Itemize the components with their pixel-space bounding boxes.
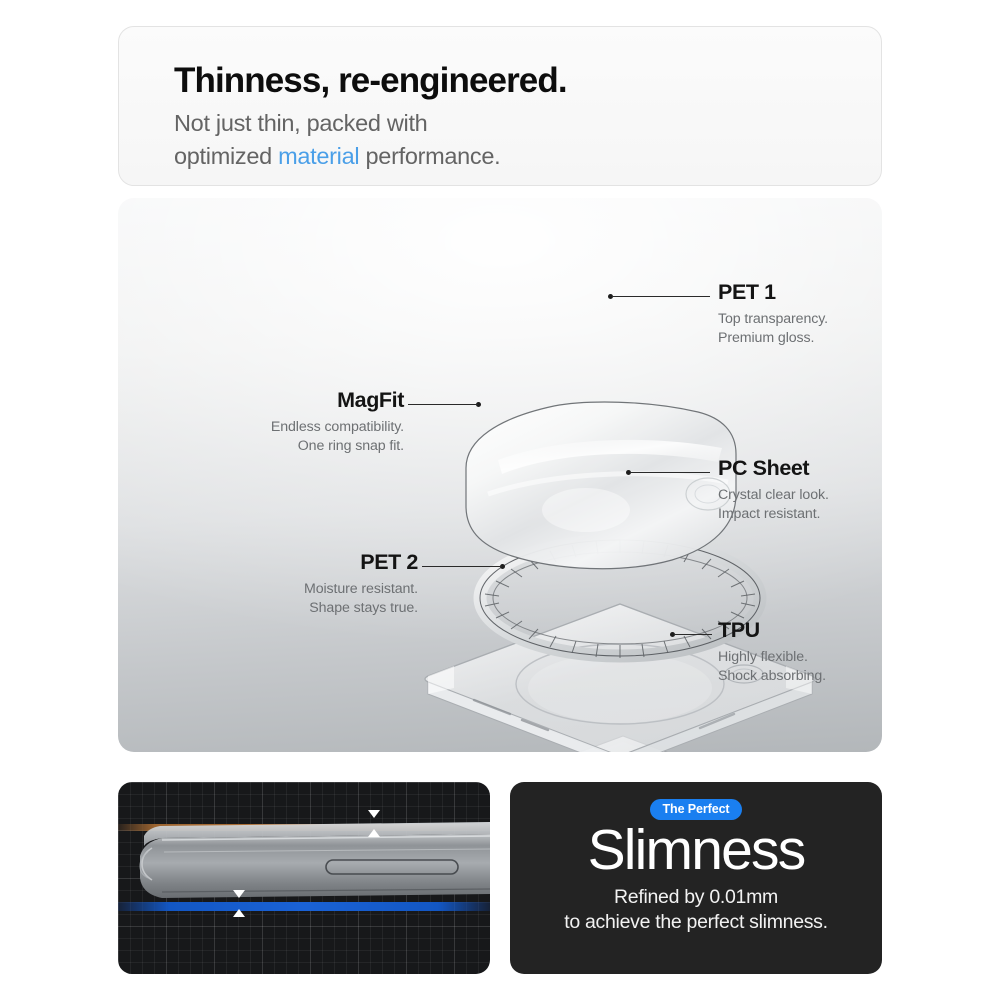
callout-tpu: TPU Highly flexible. Shock absorbing. (718, 618, 826, 687)
callout-pet2: PET 2 Moisture resistant. Shape stays tr… (118, 550, 418, 619)
slimness-subtitle: Refined by 0.01mm to achieve the perfect… (510, 885, 882, 936)
leader-line-pcsheet (630, 472, 710, 473)
leader-line-pet2 (422, 566, 502, 567)
callout-pcsheet-desc: Crystal clear look. Impact resistant. (718, 486, 829, 525)
callout-pcsheet: PC Sheet Crystal clear look. Impact resi… (718, 456, 829, 525)
diagram-stage: PET 1 Top transparency. Premium gloss. M… (118, 198, 882, 752)
product-infographic-page: Thinness, re-engineered. Not just thin, … (0, 0, 1000, 1000)
leader-line-magfit (408, 404, 478, 405)
slimness-panel: The Perfect Slimness Refined by 0.01mm t… (510, 782, 882, 974)
case-side-profile-panel (118, 782, 490, 974)
leader-line-tpu (674, 634, 712, 635)
header-card: Thinness, re-engineered. Not just thin, … (118, 26, 882, 186)
callout-tpu-title: TPU (718, 618, 826, 643)
callout-magfit-desc: Endless compatibility. One ring snap fit… (118, 418, 404, 457)
header-subtitle: Not just thin, packed with optimized mat… (174, 107, 500, 174)
callout-magfit: MagFit Endless compatibility. One ring s… (118, 388, 404, 457)
measure-marker-top-down (368, 810, 380, 818)
header-subtitle-part2: performance. (359, 143, 500, 169)
slimness-title: Slimness (510, 821, 882, 879)
accent-band-blue (118, 902, 490, 911)
callout-pet2-title: PET 2 (118, 550, 418, 575)
callout-pet1-desc: Top transparency. Premium gloss. (718, 310, 828, 349)
callout-pet1: PET 1 Top transparency. Premium gloss. (718, 280, 828, 349)
page-title: Thinness, re-engineered. (174, 61, 567, 101)
callout-pet2-desc: Moisture resistant. Shape stays true. (118, 580, 418, 619)
exploded-layers-diagram: PET 1 Top transparency. Premium gloss. M… (118, 198, 882, 752)
measure-marker-top-up (368, 829, 380, 837)
measure-marker-bottom-up (233, 909, 245, 917)
callout-tpu-desc: Highly flexible. Shock absorbing. (718, 648, 826, 687)
status-badge: The Perfect (650, 799, 743, 820)
measure-marker-bottom-down (233, 890, 245, 898)
header-subtitle-highlight: material (278, 143, 359, 169)
leader-line-pet1 (612, 296, 710, 297)
callout-magfit-title: MagFit (118, 388, 404, 413)
callout-pcsheet-title: PC Sheet (718, 456, 829, 481)
callout-pet1-title: PET 1 (718, 280, 828, 305)
